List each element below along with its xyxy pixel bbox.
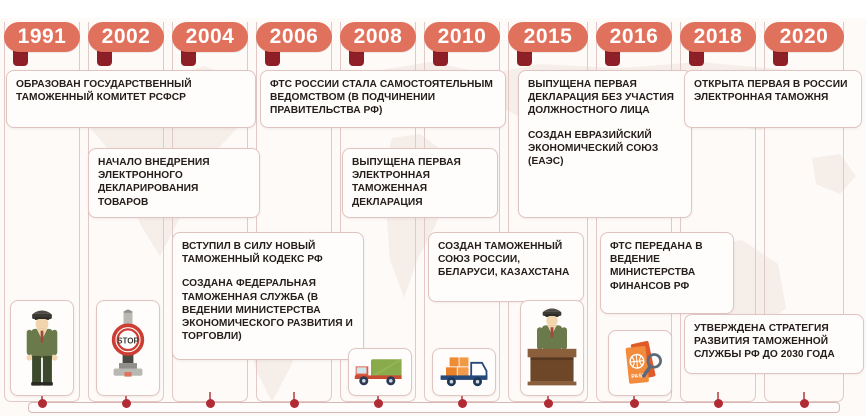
- year-pill: 2015: [508, 22, 588, 52]
- year-label: 2018: [680, 22, 756, 52]
- year-pill: 2018: [680, 22, 756, 52]
- year-pill: 2006: [256, 22, 332, 52]
- year-tab-2004[interactable]: 2004: [172, 22, 248, 52]
- year-label: 2016: [596, 22, 672, 52]
- timeline-tick-2004[interactable]: [206, 399, 215, 408]
- event-text: ФТС РОССИИ СТАЛА САМОСТОЯТЕЛЬНЫМ ВЕДОМСТ…: [270, 78, 496, 118]
- event-text: ВЫПУЩЕНА ПЕРВАЯ ЭЛЕКТРОННАЯ ТАМОЖЕННАЯ Д…: [352, 156, 488, 209]
- infographic-canvas: КАК ИЗМЕНИЛАСЬ ФЕДЕРАЛЬНАЯ ТАМОЖЕННАЯ СЛ…: [0, 0, 866, 416]
- year-label: 2020: [764, 22, 844, 52]
- year-label: 2010: [424, 22, 500, 52]
- year-label: 1991: [4, 22, 80, 52]
- blue-truck-cargo-icon: [435, 352, 493, 393]
- stop-barrier-icon: STOP: [101, 303, 155, 394]
- event-text: СОЗДАНА ФЕДЕРАЛЬНАЯ ТАМОЖЕННАЯ СЛУЖБА (В…: [182, 277, 354, 343]
- event-card-2018: ОТКРЫТА ПЕРВАЯ В РОССИИ ЭЛЕКТРОННАЯ ТАМО…: [684, 70, 862, 128]
- timeline-tick-2015[interactable]: [544, 399, 553, 408]
- event-card-2008: ВЫПУЩЕНА ПЕРВАЯ ЭЛЕКТРОННАЯ ТАМОЖЕННАЯ Д…: [342, 148, 498, 218]
- event-text: СОЗДАН ТАМОЖЕННЫЙ СОЮЗ РОССИИ, БЕЛАРУСИ,…: [438, 240, 574, 280]
- svg-text:STOP: STOP: [117, 336, 139, 345]
- event-text: ВСТУПИЛ В СИЛУ НОВЫЙ ТАМОЖЕННЫЙ КОДЕКС Р…: [182, 240, 354, 266]
- event-text: ВЫПУЩЕНА ПЕРВАЯ ДЕКЛАРАЦИЯ БЕЗ УЧАСТИЯ Д…: [528, 78, 682, 118]
- year-label: 2008: [340, 22, 416, 52]
- year-tab-2008[interactable]: 2008: [340, 22, 416, 52]
- illustration-card-2008: [348, 348, 412, 396]
- event-card-1991: ОБРАЗОВАН ГОСУДАРСТВЕННЫЙ ТАМОЖЕННЫЙ КОМ…: [6, 70, 256, 128]
- year-label: 2002: [88, 22, 164, 52]
- event-text: ОТКРЫТА ПЕРВАЯ В РОССИИ ЭЛЕКТРОННАЯ ТАМО…: [694, 78, 852, 104]
- year-tab-2002[interactable]: 2002: [88, 22, 164, 52]
- year-pill: 2010: [424, 22, 500, 52]
- event-card-2016: ФТС ПЕРЕДАНА В ВЕДЕНИЕ МИНИСТЕРСТВА ФИНА…: [600, 232, 734, 314]
- year-tab-2020[interactable]: 2020: [764, 22, 844, 52]
- year-pill: 2002: [88, 22, 164, 52]
- event-text: НАЧАЛО ВНЕДРЕНИЯ ЭЛЕКТРОННОГО ДЕКЛАРИРОВ…: [98, 156, 250, 209]
- event-card-2015: ВЫПУЩЕНА ПЕРВАЯ ДЕКЛАРАЦИЯ БЕЗ УЧАСТИЯ Д…: [518, 70, 692, 218]
- event-card-2020: УТВЕРЖДЕНА СТРАТЕГИЯ РАЗВИТИЯ ТАМОЖЕННОЙ…: [684, 314, 864, 374]
- year-label: 2015: [508, 22, 588, 52]
- year-pill: 2004: [172, 22, 248, 52]
- passport-magnifier-icon: PASS: [611, 332, 669, 395]
- timeline-tick-2020[interactable]: [800, 399, 809, 408]
- event-card-2002: НАЧАЛО ВНЕДРЕНИЯ ЭЛЕКТРОННОГО ДЕКЛАРИРОВ…: [88, 148, 260, 218]
- green-truck-icon: [351, 352, 409, 393]
- year-label: 2004: [172, 22, 248, 52]
- customs-officer-icon: [15, 303, 69, 394]
- timeline-tick-2010[interactable]: [458, 399, 467, 408]
- event-card-2006: ФТС РОССИИ СТАЛА САМОСТОЯТЕЛЬНЫМ ВЕДОМСТ…: [260, 70, 506, 128]
- timeline-tick-2006[interactable]: [290, 399, 299, 408]
- year-tab-2018[interactable]: 2018: [680, 22, 756, 52]
- event-text: УТВЕРЖДЕНА СТРАТЕГИЯ РАЗВИТИЯ ТАМОЖЕННОЙ…: [694, 322, 854, 362]
- timeline-tick-2002[interactable]: [122, 399, 131, 408]
- year-tab-1991[interactable]: 1991: [4, 22, 80, 52]
- year-tab-2010[interactable]: 2010: [424, 22, 500, 52]
- officer-desk-icon: [522, 303, 582, 394]
- year-tab-2016[interactable]: 2016: [596, 22, 672, 52]
- illustration-card-2016: PASS: [608, 330, 672, 396]
- illustration-card-2015: [520, 300, 584, 396]
- timeline-tick-2008[interactable]: [374, 399, 383, 408]
- event-text: ОБРАЗОВАН ГОСУДАРСТВЕННЫЙ ТАМОЖЕННЫЙ КОМ…: [16, 78, 246, 104]
- illustration-card-2010: [432, 348, 496, 396]
- year-pill: 2016: [596, 22, 672, 52]
- timeline-tick-1991[interactable]: [38, 399, 47, 408]
- header-bar: [0, 0, 866, 18]
- year-label: 2006: [256, 22, 332, 52]
- event-card-2010: СОЗДАН ТАМОЖЕННЫЙ СОЮЗ РОССИИ, БЕЛАРУСИ,…: [428, 232, 584, 302]
- year-pill: 2008: [340, 22, 416, 52]
- illustration-card-2002: STOP: [96, 300, 160, 396]
- year-tab-2006[interactable]: 2006: [256, 22, 332, 52]
- event-text: СОЗДАН ЕВРАЗИЙСКИЙ ЭКОНОМИЧЕСКИЙ СОЮЗ (Е…: [528, 129, 682, 169]
- event-text: ФТС ПЕРЕДАНА В ВЕДЕНИЕ МИНИСТЕРСТВА ФИНА…: [610, 240, 724, 293]
- timeline-tick-2016[interactable]: [630, 399, 639, 408]
- year-pill: 2020: [764, 22, 844, 52]
- year-tab-2015[interactable]: 2015: [508, 22, 588, 52]
- timeline-tick-2018[interactable]: [714, 399, 723, 408]
- year-pill: 1991: [4, 22, 80, 52]
- illustration-card-1991: [10, 300, 74, 396]
- event-card-2004: ВСТУПИЛ В СИЛУ НОВЫЙ ТАМОЖЕННЫЙ КОДЕКС Р…: [172, 232, 364, 360]
